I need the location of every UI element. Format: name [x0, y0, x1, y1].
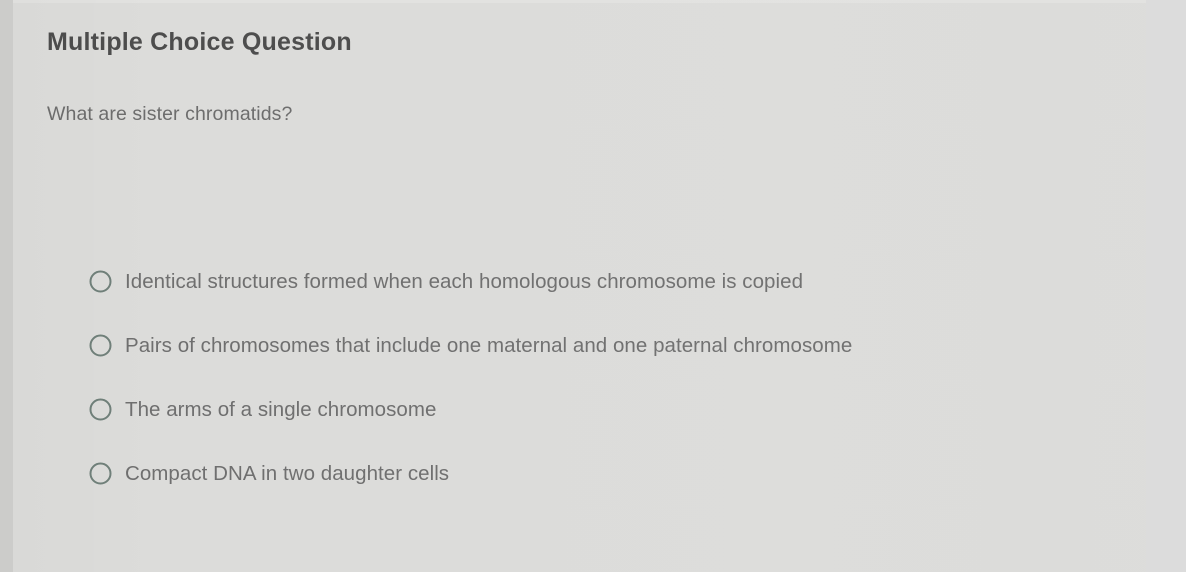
- answer-options-list: Identical structures formed when each ho…: [89, 268, 1119, 524]
- radio-unselected-icon[interactable]: [89, 334, 112, 357]
- answer-option-c[interactable]: The arms of a single chromosome: [89, 396, 1119, 460]
- question-content: Multiple Choice Question What are sister…: [0, 0, 1186, 572]
- radio-unselected-icon[interactable]: [89, 270, 112, 293]
- answer-option-label: Identical structures formed when each ho…: [125, 268, 1119, 295]
- answer-option-label: Compact DNA in two daughter cells: [125, 460, 1119, 487]
- page-title: Multiple Choice Question: [47, 28, 352, 57]
- answer-option-b[interactable]: Pairs of chromosomes that include one ma…: [89, 332, 1119, 396]
- radio-unselected-icon[interactable]: [89, 462, 112, 485]
- answer-option-label: The arms of a single chromosome: [125, 396, 1119, 423]
- answer-option-d[interactable]: Compact DNA in two daughter cells: [89, 460, 1119, 524]
- radio-unselected-icon[interactable]: [89, 398, 112, 421]
- question-prompt: What are sister chromatids?: [47, 103, 292, 126]
- answer-option-a[interactable]: Identical structures formed when each ho…: [89, 268, 1119, 332]
- answer-option-label: Pairs of chromosomes that include one ma…: [125, 332, 1119, 359]
- quiz-screen: Multiple Choice Question What are sister…: [0, 0, 1186, 572]
